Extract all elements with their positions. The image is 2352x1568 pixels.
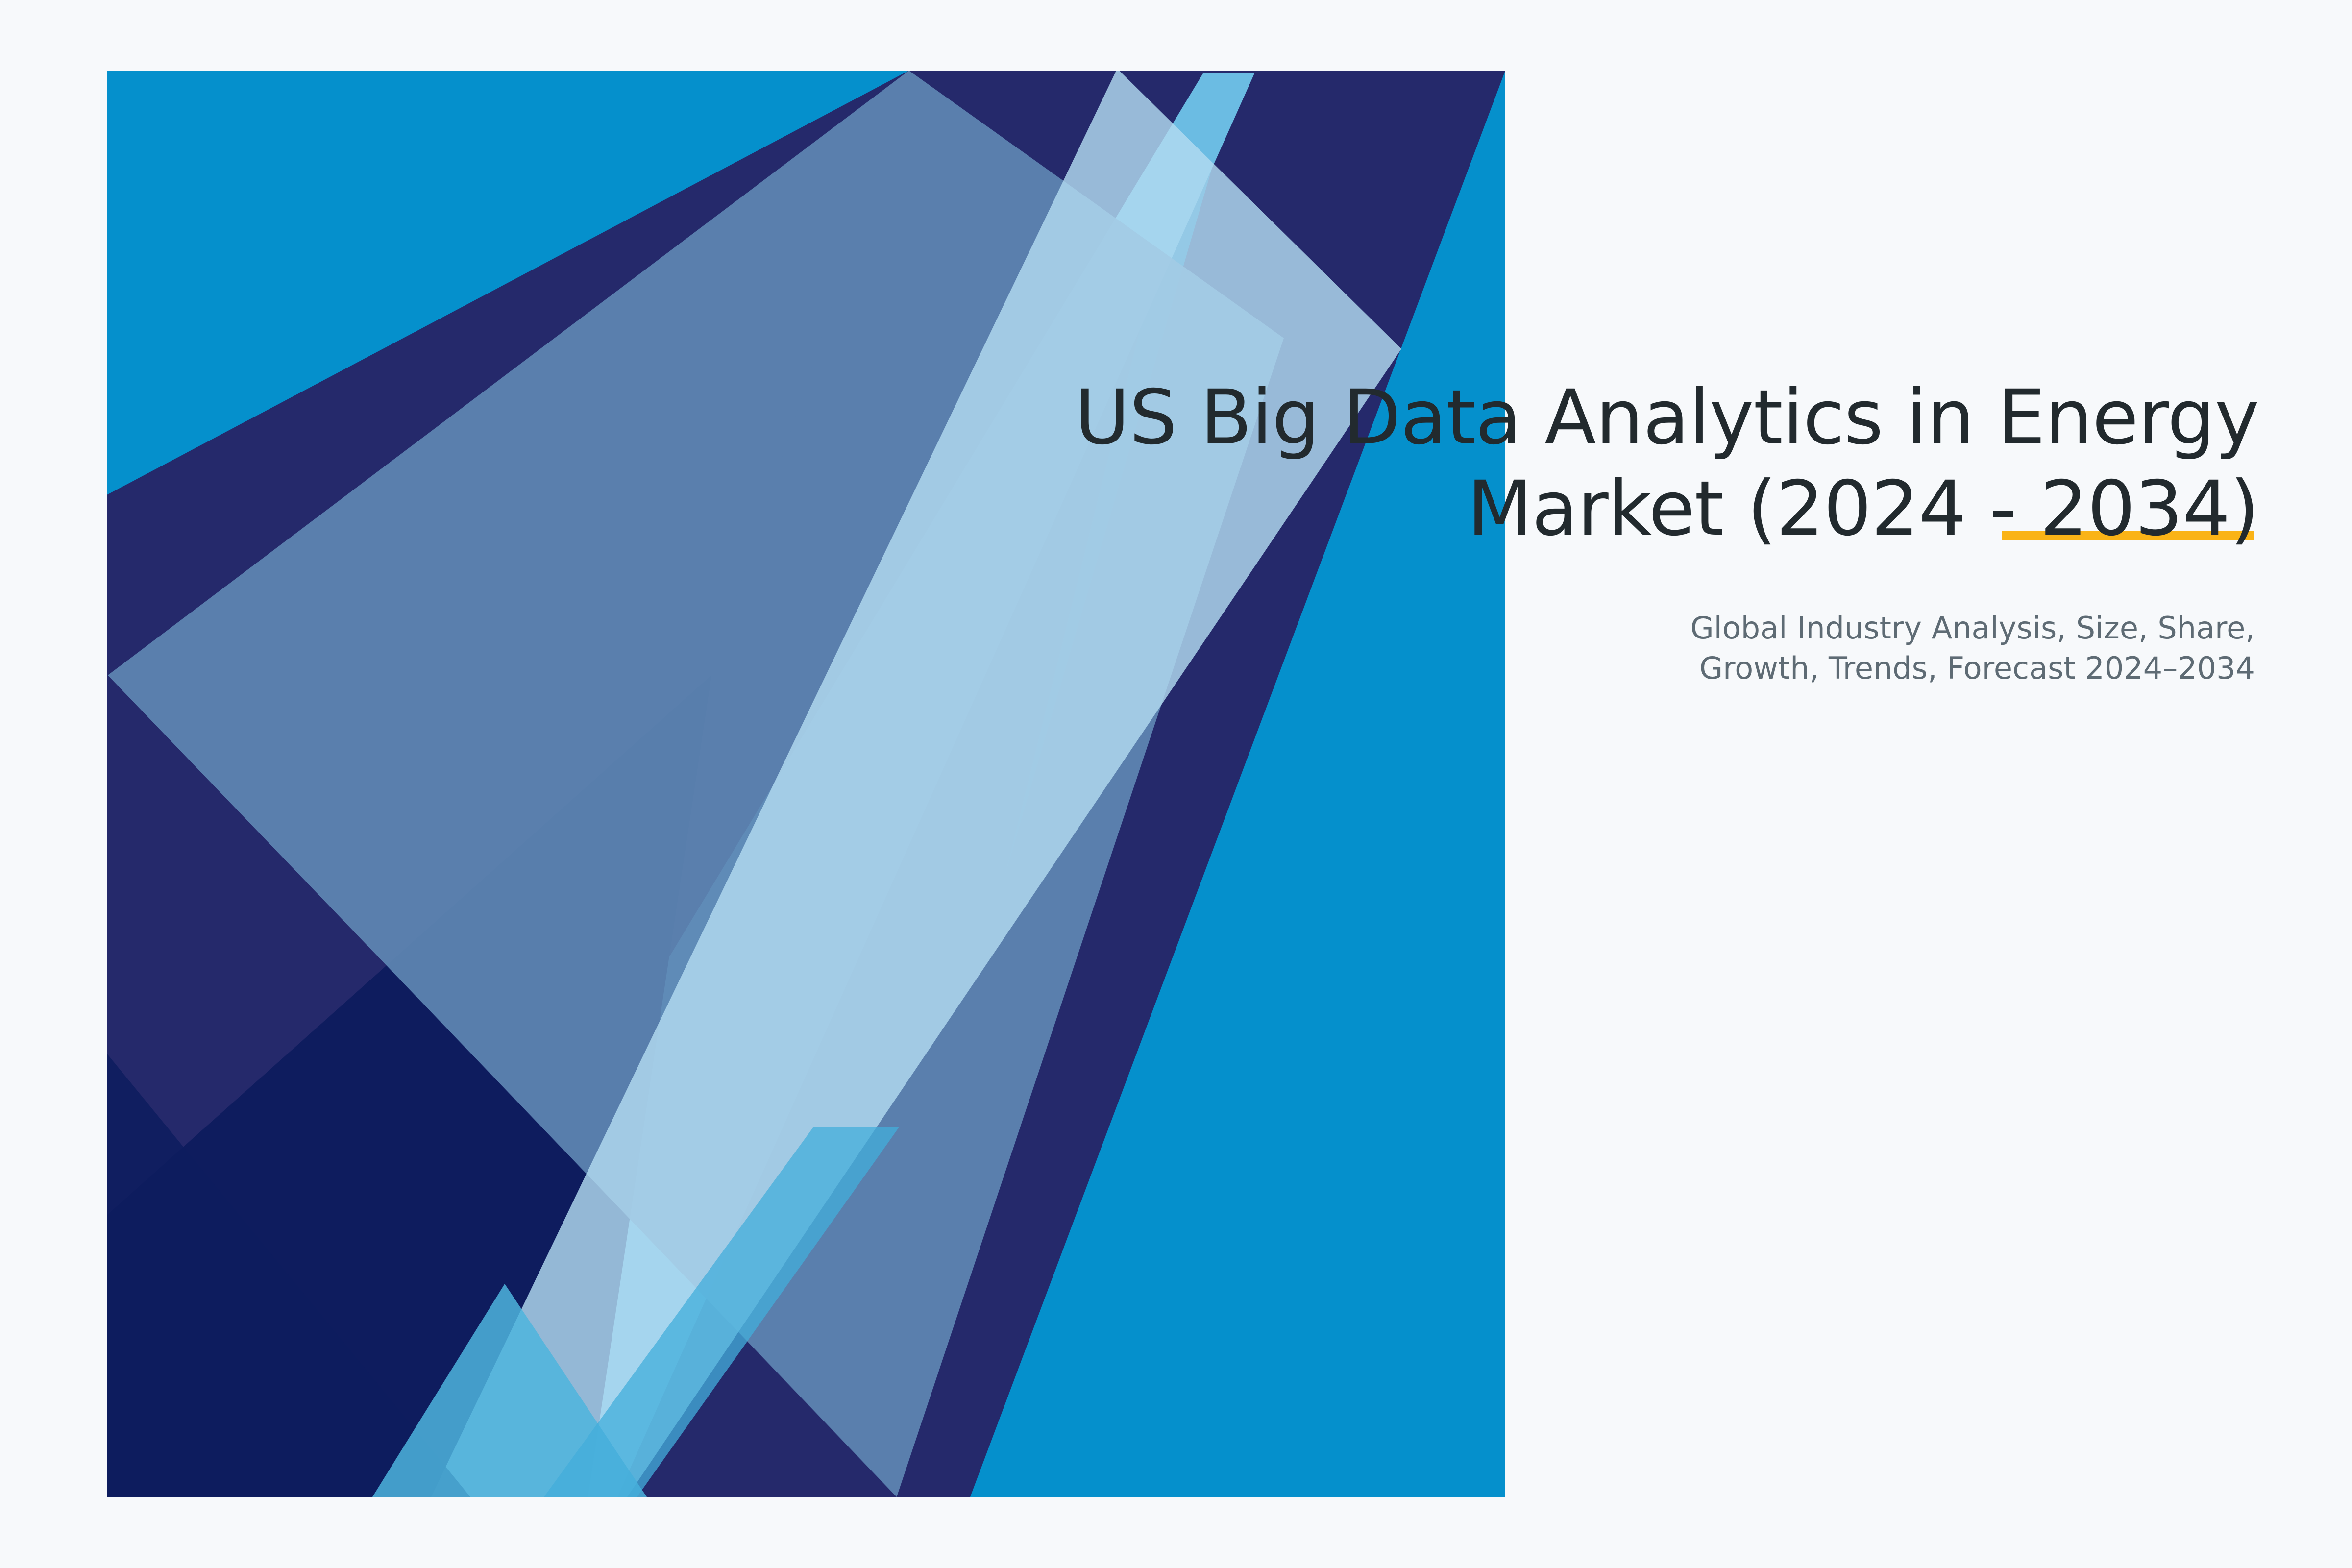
cover-artwork [0, 0, 2352, 1568]
page-title: US Big Data Analytics in Energy Market (… [1019, 372, 2259, 555]
hero-text-block: US Big Data Analytics in Energy Market (… [1019, 372, 2259, 689]
page-subtitle: Global Industry Analysis, Size, Share, G… [1019, 608, 2255, 689]
title-wrapper: US Big Data Analytics in Energy Market (… [1019, 372, 2259, 555]
report-cover-page: US Big Data Analytics in Energy Market (… [0, 0, 2352, 1568]
